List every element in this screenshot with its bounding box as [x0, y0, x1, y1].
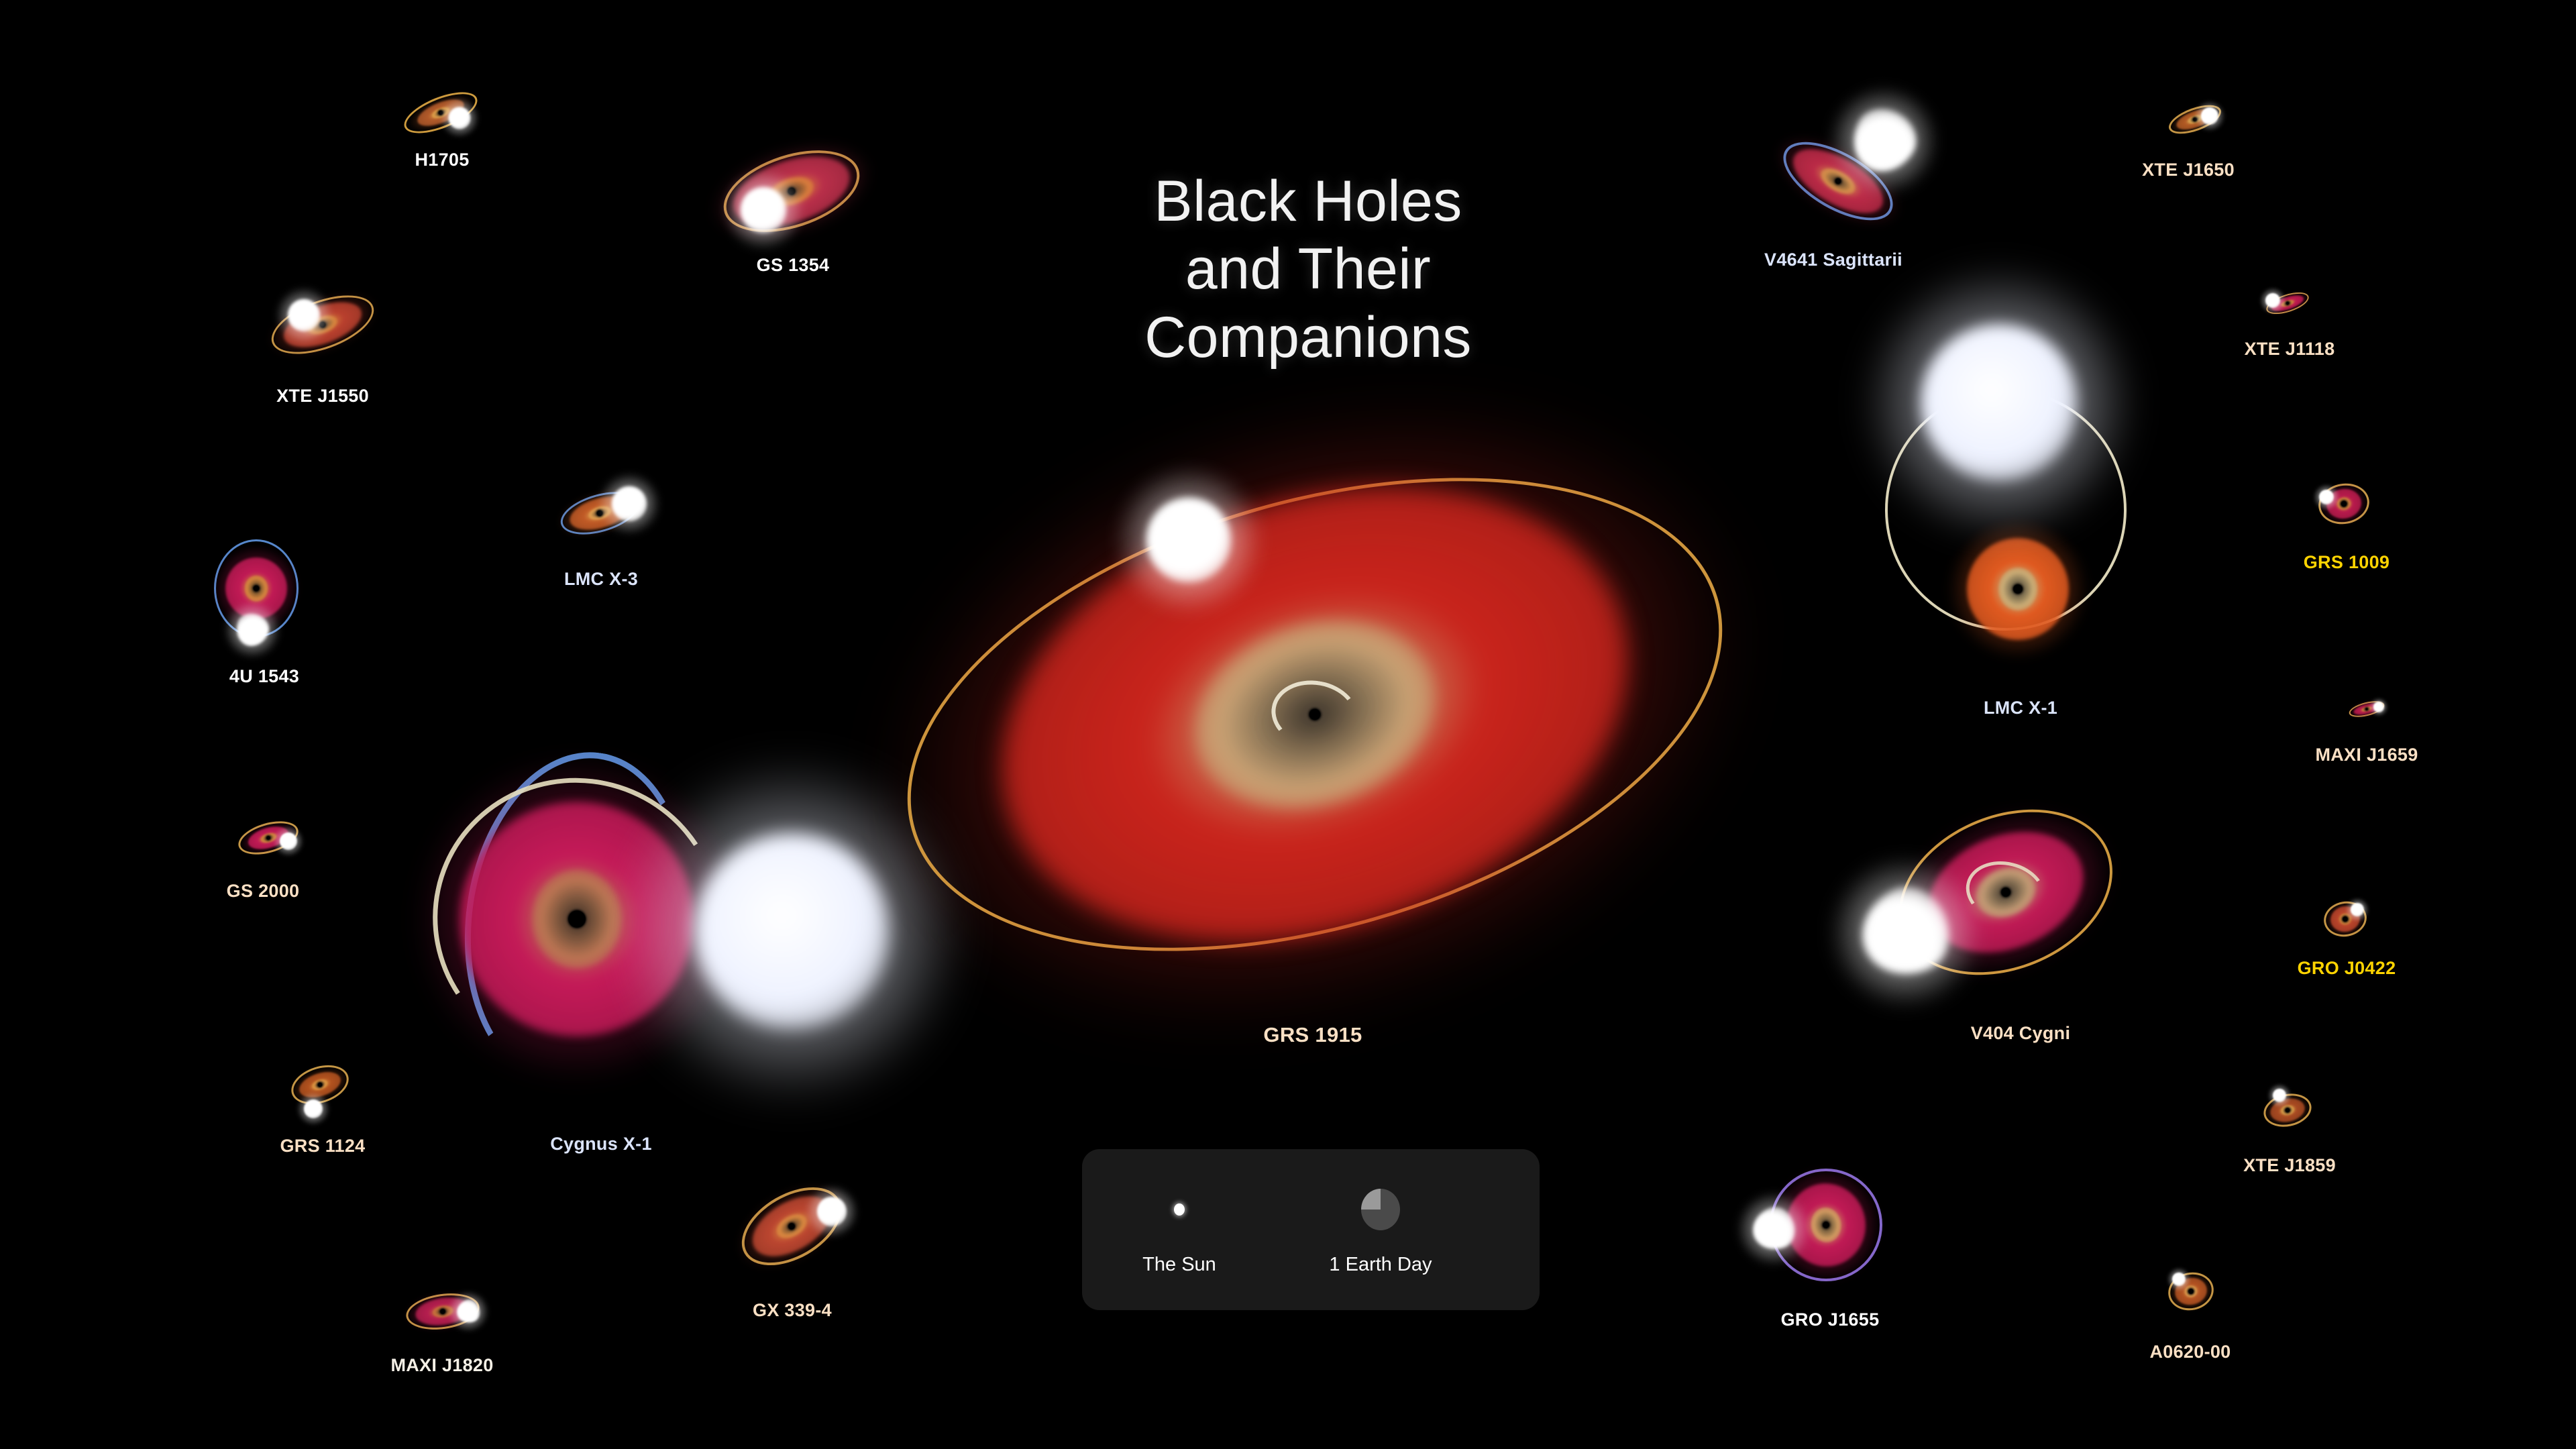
companion-star — [1841, 99, 1926, 183]
star-core — [2373, 702, 2384, 712]
sun-dot-icon — [1174, 1203, 1185, 1216]
star-core — [2351, 903, 2364, 916]
companion-star — [2172, 1273, 2186, 1286]
companion-star — [453, 1297, 483, 1326]
system-label-xte-j1550: XTE J1550 — [276, 386, 369, 407]
system-label-maxi-j1659: MAXI J1659 — [2315, 745, 2418, 765]
system-label-grs-1915: GRS 1915 — [1263, 1023, 1362, 1047]
system-label-grs-1124: GRS 1124 — [280, 1136, 366, 1157]
companion-star — [231, 609, 273, 651]
legend-label-earth-day: 1 Earth Day — [1329, 1254, 1432, 1276]
star-core — [694, 834, 889, 1028]
star-core — [612, 486, 647, 521]
star-core — [288, 299, 320, 331]
companion-star — [694, 834, 889, 1028]
star-core — [2172, 1273, 2186, 1286]
legend-item-earth-day: 1 Earth Day — [1270, 1168, 1491, 1289]
system-label-gro-j1655: GRO J1655 — [1781, 1309, 1880, 1330]
companion-star — [817, 1197, 847, 1226]
companion-star — [2201, 107, 2218, 125]
star-core — [280, 833, 297, 850]
companion-star — [2351, 903, 2364, 916]
legend-panel: The Sun 1 Earth Day — [1082, 1149, 1540, 1310]
system-label-v4641-sagittarii: V4641 Sagittarii — [1764, 250, 1902, 270]
companion-star — [2373, 702, 2384, 712]
companion-star — [741, 187, 786, 233]
star-core — [449, 107, 471, 129]
starfield-canvas: Black Holes and Their Companions H1705GS… — [0, 0, 2576, 1449]
legend-label-sun: The Sun — [1142, 1254, 1216, 1276]
system-label-xte-j1650: XTE J1650 — [2142, 160, 2235, 180]
companion-star — [1146, 498, 1231, 582]
page-title: Black Holes and Their Companions — [1033, 168, 1583, 372]
star-core — [2273, 1089, 2286, 1102]
companion-star — [2319, 490, 2334, 504]
earth-day-disc-icon — [1361, 1189, 1400, 1230]
companion-star — [288, 299, 320, 331]
system-label-maxi-j1820: MAXI J1820 — [390, 1355, 493, 1376]
black-hole-core — [254, 586, 260, 592]
star-core — [741, 187, 786, 233]
system-label-gs-1354: GS 1354 — [757, 255, 830, 276]
companion-star — [304, 1099, 323, 1118]
system-label-gs-2000: GS 2000 — [227, 881, 300, 902]
companion-star — [2273, 1089, 2286, 1102]
star-core — [817, 1197, 847, 1226]
companion-star — [1747, 1202, 1800, 1255]
system-label-gro-j0422: GRO J0422 — [2298, 958, 2396, 979]
legend-item-sun: The Sun — [1095, 1168, 1263, 1289]
companion-star — [1848, 875, 1962, 989]
star-core — [2319, 490, 2334, 504]
star-core — [1921, 325, 2077, 480]
companion-star — [2265, 293, 2280, 308]
companion-star — [612, 486, 647, 521]
star-core — [304, 1099, 323, 1118]
system-label-gx-339-4: GX 339-4 — [753, 1300, 832, 1321]
system-label-v404-cygni: V404 Cygni — [1971, 1023, 2071, 1044]
star-core — [1146, 498, 1231, 582]
system-label-cygnus-x-1: Cygnus X-1 — [550, 1134, 652, 1155]
companion-star — [1921, 325, 2077, 480]
system-label-lmc-x-3: LMC X-3 — [564, 569, 638, 590]
companion-star — [449, 107, 471, 129]
system-label-lmc-x-1: LMC X-1 — [1984, 698, 2057, 718]
star-core — [2201, 107, 2218, 125]
companion-star — [280, 833, 297, 850]
star-core — [2265, 293, 2280, 308]
accretion-disk — [1967, 538, 2069, 640]
system-label-xte-j1859: XTE J1859 — [2243, 1155, 2336, 1176]
black-hole-core — [2013, 584, 2023, 594]
system-label-grs-1009: GRS 1009 — [2304, 552, 2390, 573]
system-label-4u-1543: 4U 1543 — [229, 666, 299, 687]
system-label-a0620-00: A0620-00 — [2150, 1342, 2231, 1362]
system-label-xte-j1118: XTE J1118 — [2245, 339, 2335, 360]
system-label-h1705: H1705 — [415, 150, 469, 170]
